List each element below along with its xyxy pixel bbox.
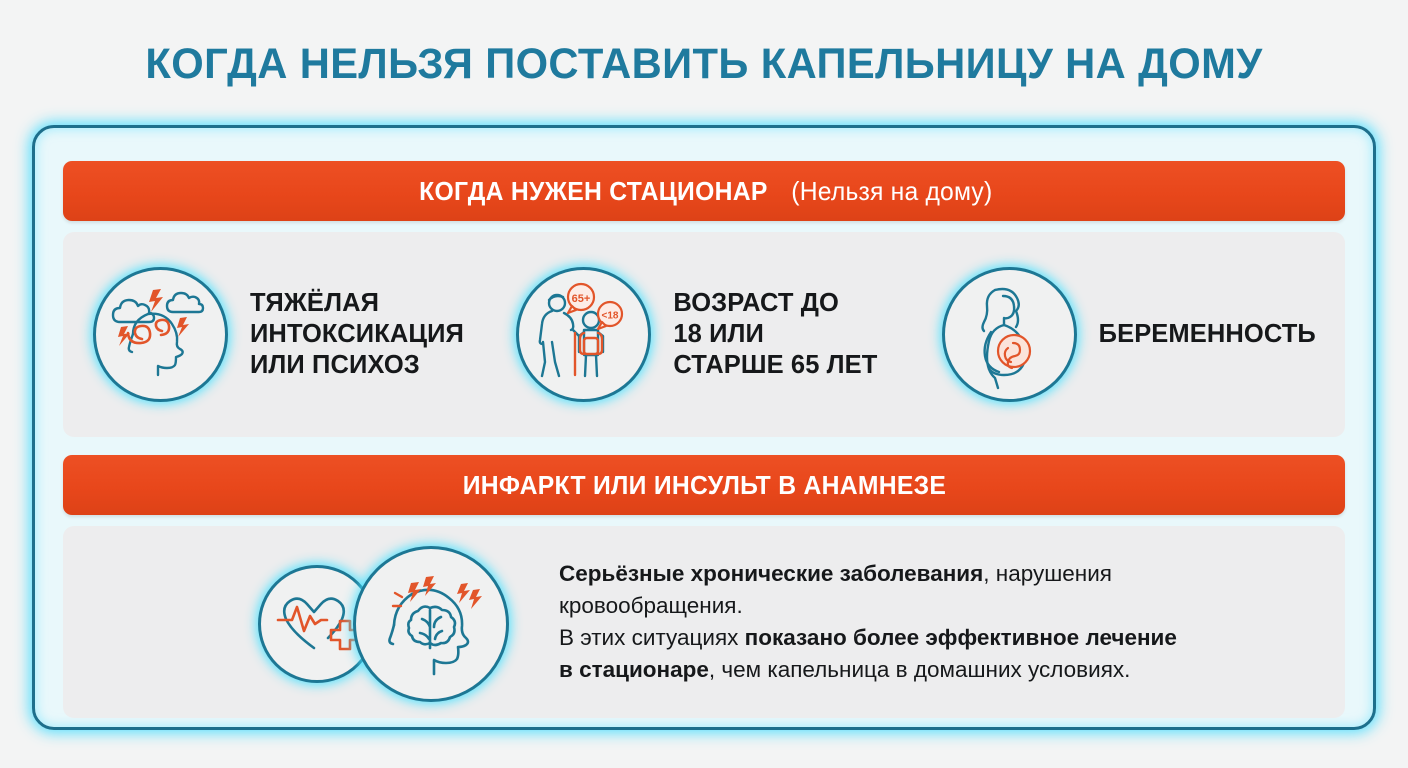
item-age: 65+ <18 ВОЗРАСТ ДО 18 ИЛИ СТАРШЕ 65 ЛЕТ [496, 267, 919, 402]
head-storm-icon [93, 267, 228, 402]
section-hospital-required: КОГДА НУЖЕН СТАЦИОНАР (Нельзя на дому) [63, 161, 1345, 437]
paragraph-line-3-bold: показано более эффективное лечение [745, 625, 1177, 650]
icon-pair-heart-brain [258, 546, 503, 698]
infographic-page: КОГДА НЕЛЬЗЯ ПОСТАВИТЬ КАПЕЛЬНИЦУ НА ДОМ… [0, 0, 1408, 768]
paragraph-line-1: Серьёзные хронические заболевания, наруш… [559, 558, 1177, 590]
section-2-header-strong: ИНФАРКТ ИЛИ ИНСУЛЬТ В АНАМНЕЗЕ [462, 470, 945, 501]
paragraph-line-4-rest: , чем капельница в домашних условиях. [709, 657, 1130, 682]
item-intoxication-label: ТЯЖЁЛАЯ ИНТОКСИКАЦИЯ ИЛИ ПСИХОЗ [250, 288, 464, 381]
item-age-label: ВОЗРАСТ ДО 18 ИЛИ СТАРШЕ 65 ЛЕТ [673, 288, 877, 381]
section-2-panel: Серьёзные хронические заболевания, наруш… [63, 526, 1345, 718]
section-heart-stroke-history: ИНФАРКТ ИЛИ ИНСУЛЬТ В АНАМНЕЗЕ [63, 455, 1345, 718]
paragraph-line-4-bold: в стационаре [559, 657, 709, 682]
section-1-header-band: КОГДА НУЖЕН СТАЦИОНАР (Нельзя на дому) [63, 161, 1345, 221]
paragraph-line-4: в стационаре, чем капельница в домашних … [559, 654, 1177, 686]
head-brain-lightning-icon [353, 546, 509, 702]
page-title: КОГДА НЕЛЬЗЯ ПОСТАВИТЬ КАПЕЛЬНИЦУ НА ДОМ… [21, 38, 1387, 90]
item-pregnancy-label: БЕРЕМЕННОСТЬ [1099, 319, 1316, 350]
paragraph-line-3: В этих ситуациях показано более эффектив… [559, 622, 1177, 654]
item-pregnancy: БЕРЕМЕННОСТЬ [920, 267, 1345, 402]
svg-text:<18: <18 [602, 311, 619, 322]
paragraph-line-1-bold: Серьёзные хронические заболевания [559, 561, 983, 586]
svg-text:65+: 65+ [572, 293, 591, 305]
section-1-panel: ТЯЖЁЛАЯ ИНТОКСИКАЦИЯ ИЛИ ПСИХОЗ [63, 232, 1345, 437]
pregnancy-icon [942, 267, 1077, 402]
section-2-header-band: ИНФАРКТ ИЛИ ИНСУЛЬТ В АНАМНЕЗЕ [63, 455, 1345, 515]
paragraph-line-1-rest: , нарушения [983, 561, 1112, 586]
paragraph-line-3-prefix: В этих ситуациях [559, 625, 745, 650]
section-2-paragraph: Серьёзные хронические заболевания, наруш… [559, 558, 1177, 686]
item-intoxication: ТЯЖЁЛАЯ ИНТОКСИКАЦИЯ ИЛИ ПСИХОЗ [63, 267, 496, 402]
main-card: КОГДА НУЖЕН СТАЦИОНАР (Нельзя на дому) [32, 125, 1376, 730]
paragraph-line-2: кровообращения. [559, 590, 1177, 622]
section-1-header-strong: КОГДА НУЖЕН СТАЦИОНАР [419, 176, 767, 207]
elderly-and-child-icon: 65+ <18 [516, 267, 651, 402]
section-1-header-light: (Нельзя на дому) [791, 176, 992, 207]
